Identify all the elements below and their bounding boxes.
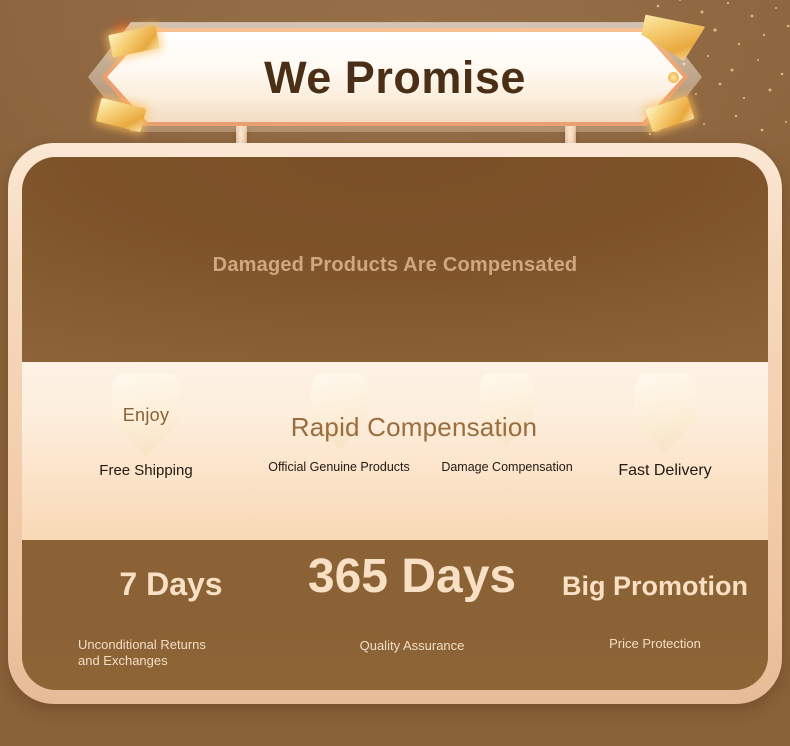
promo-value: 365 Days — [288, 552, 536, 602]
promo-item-price-protection[interactable]: Big Promotion Price Protection — [546, 572, 764, 653]
headline-band: Damaged Products Are Compensated — [22, 157, 768, 362]
shield-item-free-shipping[interactable]: Enjoy Free Shipping — [86, 374, 206, 479]
shield-item-damage-compensation[interactable]: Damage Compensation — [432, 374, 582, 474]
promo-item-quality-assurance[interactable]: 365 Days Quality Assurance — [288, 552, 536, 655]
headline-text: Damaged Products Are Compensated — [213, 254, 578, 277]
shield-icon — [635, 374, 695, 454]
we-promise-banner: We Promise Damaged Products Are Compensa… — [0, 0, 790, 746]
shield-word: Enjoy — [123, 405, 170, 426]
shield-item-fast-delivery[interactable]: Fast Delivery — [600, 374, 730, 480]
shields-band: Enjoy Free Shipping Official Genuine Pro… — [22, 362, 768, 540]
shield-icon — [480, 374, 534, 446]
promo-caption: Unconditional Returns and Exchanges — [58, 637, 228, 670]
promo-value: Big Promotion — [546, 572, 764, 600]
sign-board: We Promise — [88, 8, 702, 158]
shield-caption: Free Shipping — [86, 462, 206, 479]
promo-caption: Price Protection — [546, 636, 764, 652]
sign-face: We Promise — [107, 32, 683, 122]
promo-item-returns[interactable]: 7 Days Unconditional Returns and Exchang… — [58, 568, 284, 669]
page-title: We Promise — [264, 55, 526, 100]
shield-caption: Fast Delivery — [600, 462, 730, 480]
shield-item-official-genuine-products[interactable]: Official Genuine Products — [262, 374, 416, 474]
promo-band: 7 Days Unconditional Returns and Exchang… — [22, 540, 768, 690]
main-frame: Damaged Products Are Compensated Enjoy F… — [8, 143, 782, 704]
promo-caption: Quality Assurance — [288, 638, 536, 654]
main-panel: Damaged Products Are Compensated Enjoy F… — [22, 157, 768, 690]
gold-dot-icon — [668, 72, 679, 83]
promo-value: 7 Days — [58, 568, 284, 602]
shield-caption: Official Genuine Products — [262, 460, 416, 474]
shield-icon — [311, 374, 367, 450]
shield-icon: Enjoy — [112, 374, 180, 456]
shield-caption: Damage Compensation — [432, 460, 582, 474]
